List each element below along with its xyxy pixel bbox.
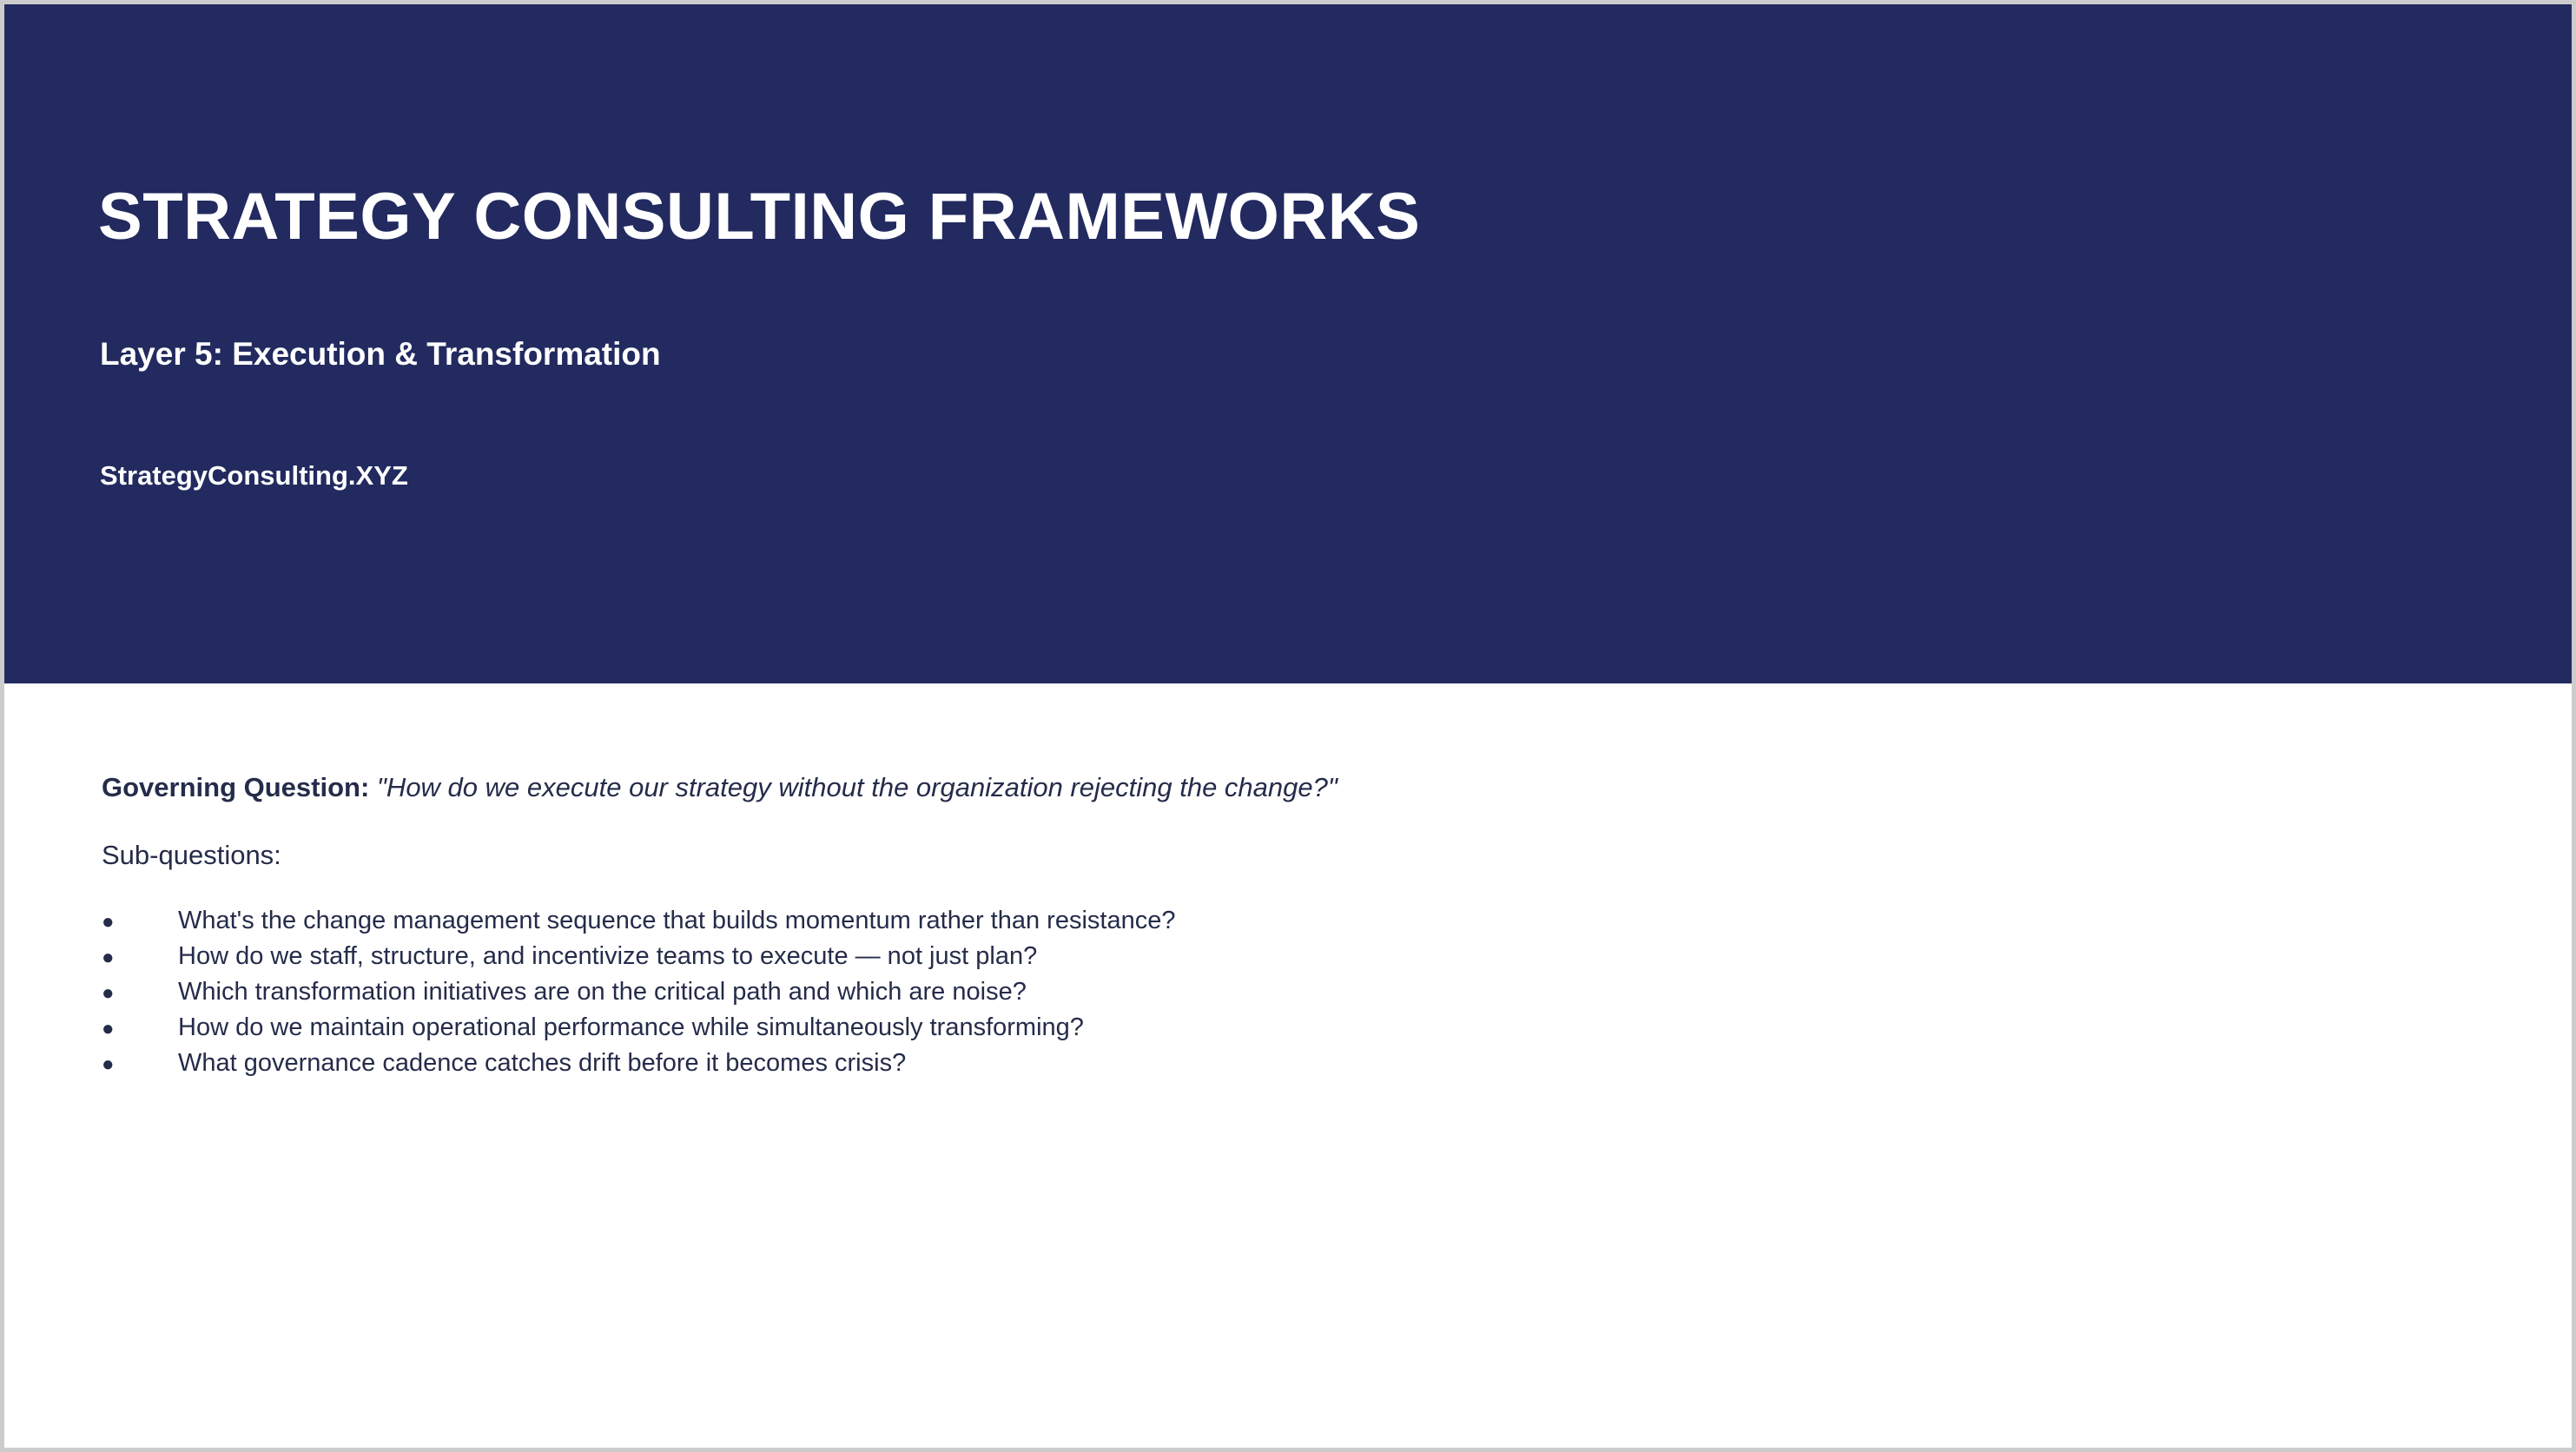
governing-question: Governing Question: "How do we execute o… — [102, 770, 1338, 805]
page-title: STRATEGY CONSULTING FRAMEWORKS — [98, 182, 1420, 252]
governing-question-label: Governing Question: — [102, 772, 369, 802]
list-item: ● Which transformation initiatives are o… — [102, 974, 1175, 1010]
body-content: Governing Question: "How do we execute o… — [4, 683, 2572, 1448]
bullet-icon: ● — [102, 940, 178, 975]
subquestions-list: ● What's the change management sequence … — [102, 903, 1175, 1081]
list-item-label: How do we maintain operational performan… — [178, 1010, 1084, 1046]
list-item-label: How do we staff, structure, and incentiv… — [178, 939, 1037, 974]
list-item-label: What's the change management sequence th… — [178, 903, 1175, 939]
subquestions-heading: Sub-questions: — [102, 838, 281, 873]
governing-question-text: "How do we execute our strategy without … — [377, 772, 1338, 802]
bullet-icon: ● — [102, 1011, 178, 1046]
source-attribution: StrategyConsulting.XYZ — [100, 460, 408, 492]
list-item: ● What's the change management sequence … — [102, 903, 1175, 939]
list-item: ● What governance cadence catches drift … — [102, 1046, 1175, 1081]
bullet-icon: ● — [102, 975, 178, 1011]
page-subtitle: Layer 5: Execution & Transformation — [100, 336, 661, 373]
list-item-label: What governance cadence catches drift be… — [178, 1046, 906, 1081]
list-item-label: Which transformation initiatives are on … — [178, 974, 1027, 1010]
title-band: STRATEGY CONSULTING FRAMEWORKS Layer 5: … — [4, 4, 2572, 683]
bullet-icon: ● — [102, 1046, 178, 1082]
list-item: ● How do we maintain operational perform… — [102, 1010, 1175, 1046]
slide: STRATEGY CONSULTING FRAMEWORKS Layer 5: … — [0, 0, 2576, 1452]
bullet-icon: ● — [102, 904, 178, 940]
list-item: ● How do we staff, structure, and incent… — [102, 939, 1175, 974]
